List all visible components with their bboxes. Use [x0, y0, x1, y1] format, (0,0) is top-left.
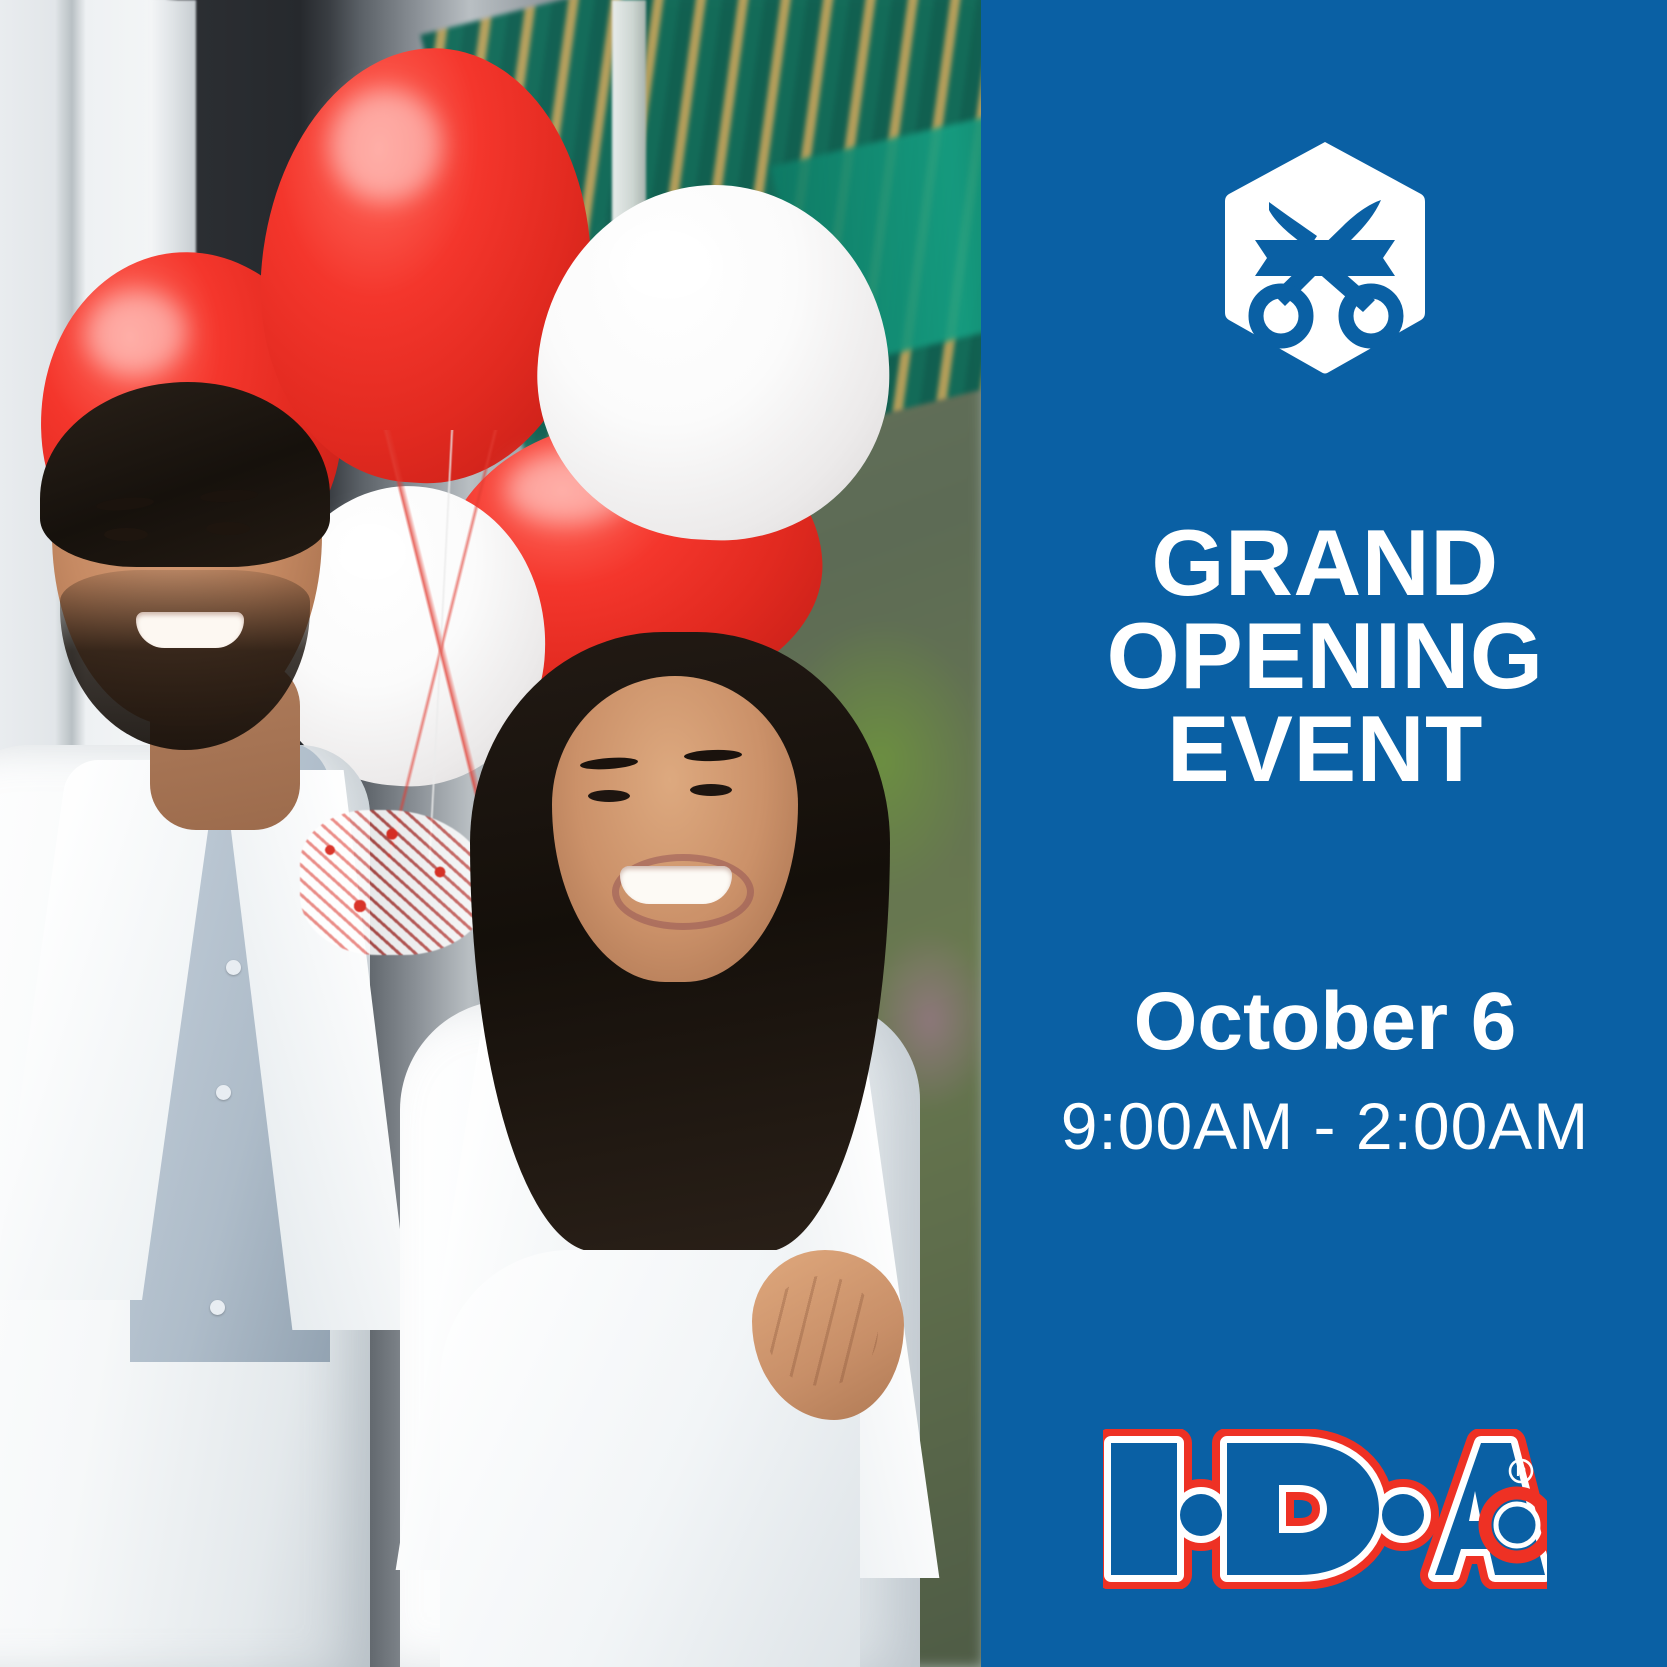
smile — [620, 866, 732, 904]
smile — [136, 612, 244, 648]
headline-line-1: GRAND — [983, 516, 1667, 609]
ribbon-cutting-scissors-hexagon-icon — [1225, 140, 1425, 374]
pharmacists-photo — [0, 0, 983, 1667]
event-time: 9:00AM - 2:00AM — [983, 1093, 1667, 1159]
photo-panel-edge — [981, 0, 983, 1667]
svg-text:R: R — [1516, 1463, 1526, 1479]
headline-line-2: OPENING — [983, 609, 1667, 702]
eye — [206, 522, 250, 535]
shirt-button — [216, 1085, 231, 1100]
headline-line-3: EVENT — [983, 702, 1667, 795]
eye — [104, 528, 148, 541]
info-panel: GRAND OPENING EVENT October 6 9:00AM - 2… — [983, 0, 1667, 1667]
logo-trailing-dot — [1496, 1504, 1538, 1546]
eye — [690, 784, 732, 796]
shirt-button — [210, 1300, 225, 1315]
eye — [588, 790, 630, 802]
shirt-button — [226, 960, 241, 975]
headline: GRAND OPENING EVENT — [983, 516, 1667, 795]
grand-opening-poster: GRAND OPENING EVENT October 6 9:00AM - 2… — [0, 0, 1667, 1667]
ida-logo: R — [983, 1429, 1667, 1589]
event-date: October 6 — [983, 981, 1667, 1063]
